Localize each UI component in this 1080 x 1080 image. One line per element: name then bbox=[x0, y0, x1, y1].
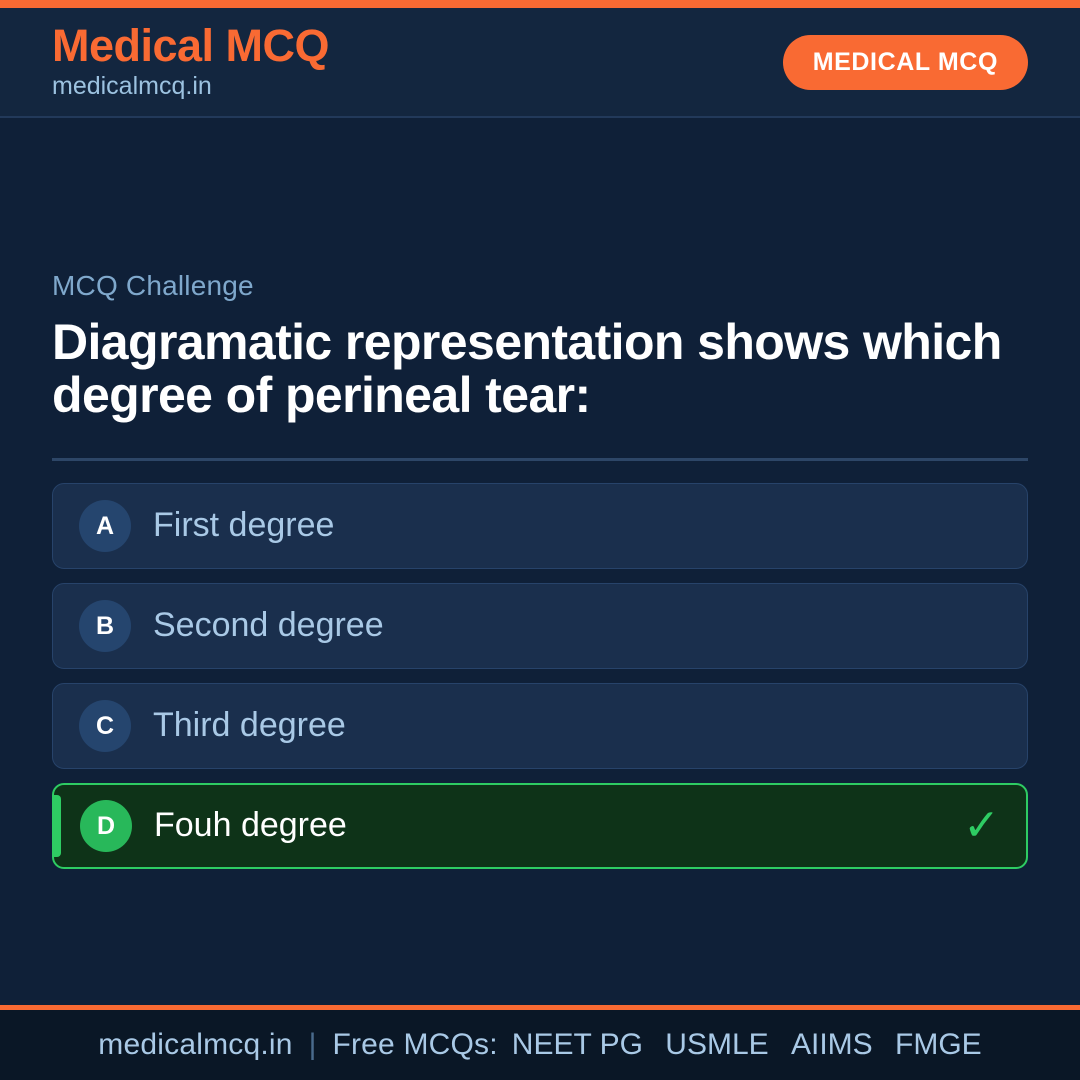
option-letter-badge: D bbox=[80, 800, 132, 852]
footer-exam-item: NEET PG bbox=[512, 1028, 643, 1061]
option-letter-badge: A bbox=[79, 500, 131, 552]
question-divider bbox=[52, 458, 1028, 461]
option-d[interactable]: D Fouh degree ✓ bbox=[52, 783, 1028, 869]
footer-site: medicalmcq.in bbox=[98, 1028, 292, 1062]
option-label: Third degree bbox=[153, 707, 346, 744]
question-text: Diagramatic representation shows which d… bbox=[52, 316, 1012, 422]
correct-accent-bar bbox=[54, 795, 61, 857]
option-label: Second degree bbox=[153, 607, 384, 644]
mcq-card: Medical MCQ medicalmcq.in MEDICAL MCQ MC… bbox=[0, 0, 1080, 1080]
footer-exams-label: Free MCQs: bbox=[332, 1028, 497, 1062]
option-label: Fouh degree bbox=[154, 807, 347, 844]
page-header: Medical MCQ medicalmcq.in MEDICAL MCQ bbox=[0, 8, 1080, 118]
option-a[interactable]: A First degree bbox=[52, 483, 1028, 569]
top-accent-bar bbox=[0, 0, 1080, 8]
footer-exams-list: NEET PG USMLE AIIMS FMGE bbox=[498, 1028, 982, 1062]
footer-exam-item: AIIMS bbox=[791, 1028, 873, 1061]
header-badge: MEDICAL MCQ bbox=[783, 35, 1028, 90]
options-list: A First degree B Second degree C Third d… bbox=[52, 483, 1028, 869]
footer-separator: | bbox=[293, 1028, 333, 1062]
checkmark-icon: ✓ bbox=[963, 804, 1000, 848]
option-letter-badge: B bbox=[79, 600, 131, 652]
page-footer: medicalmcq.in | Free MCQs: NEET PG USMLE… bbox=[0, 1010, 1080, 1080]
brand-subtitle: medicalmcq.in bbox=[52, 71, 329, 102]
footer-exam-item: USMLE bbox=[665, 1028, 768, 1061]
option-b[interactable]: B Second degree bbox=[52, 583, 1028, 669]
brand-title: Medical MCQ bbox=[52, 22, 329, 69]
option-c[interactable]: C Third degree bbox=[52, 683, 1028, 769]
eyebrow-label: MCQ Challenge bbox=[52, 270, 1028, 302]
option-label: First degree bbox=[153, 507, 334, 544]
footer-exam-item: FMGE bbox=[895, 1028, 982, 1061]
main-content: MCQ Challenge Diagramatic representation… bbox=[0, 118, 1080, 1005]
option-letter-badge: C bbox=[79, 700, 131, 752]
brand: Medical MCQ medicalmcq.in bbox=[52, 22, 329, 103]
